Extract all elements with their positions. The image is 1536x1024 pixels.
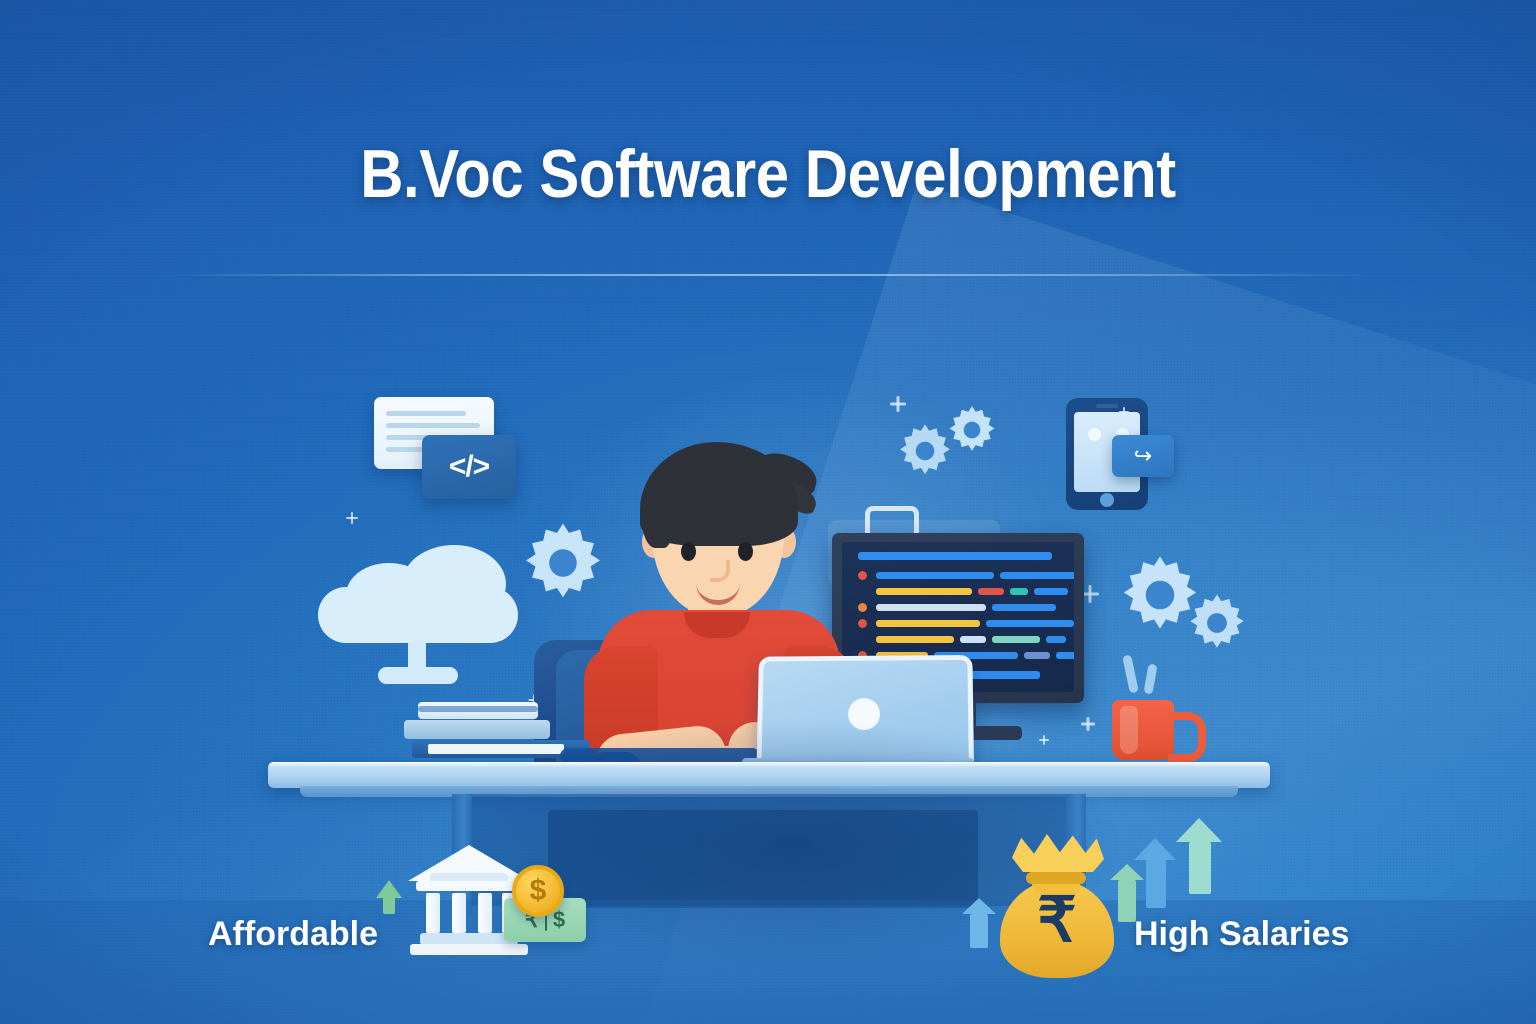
vignette-overlay	[0, 0, 1536, 1024]
illustration-canvas: B.Voc Software Development </>	[0, 0, 1536, 1024]
